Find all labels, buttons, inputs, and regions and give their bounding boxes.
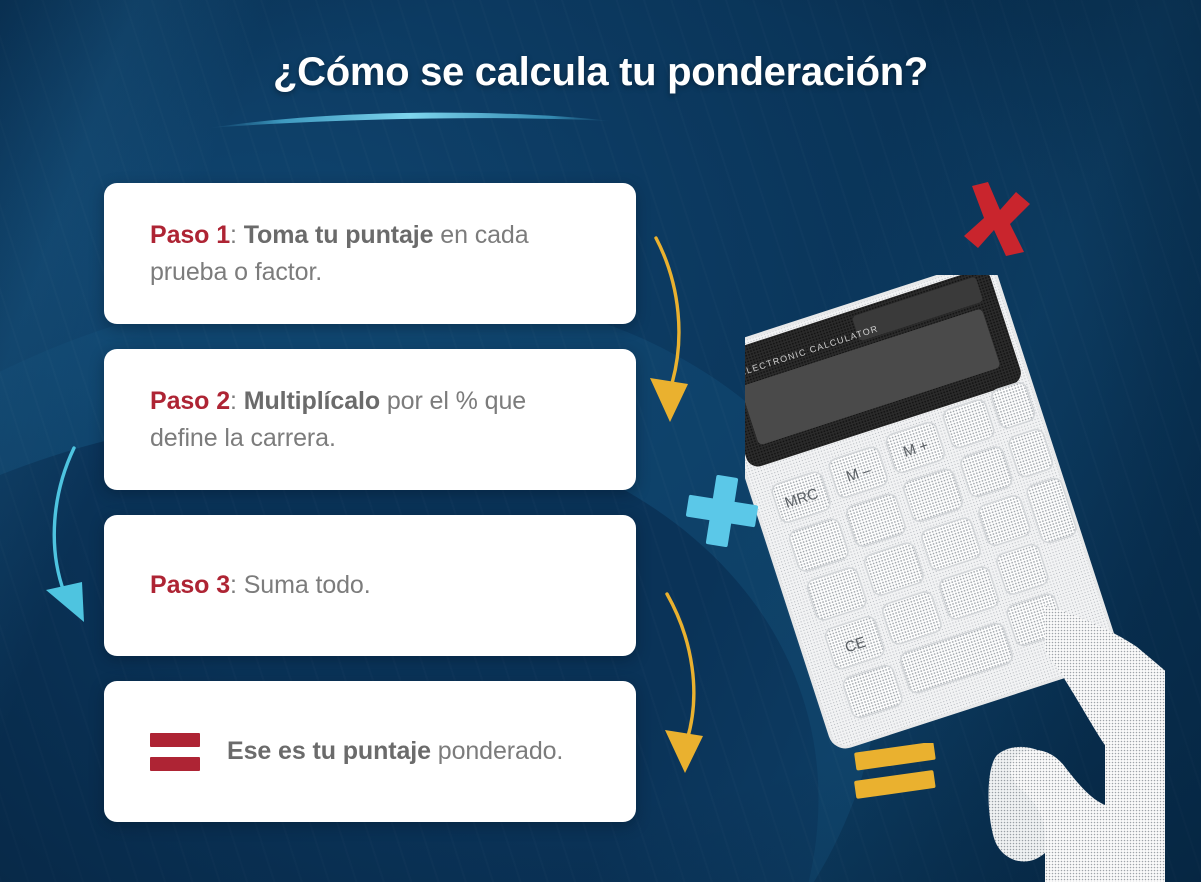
step-card-2-separator: :: [230, 387, 244, 415]
infographic-canvas: ¿Cómo se calcula tu ponderación?: [0, 0, 1201, 882]
step-card-3-separator: :: [230, 571, 244, 599]
step-card-2-text: Paso 2: Multiplícalo por el % que define…: [150, 383, 590, 456]
calculator-illustration: ELECTRONIC CALCULATOR: [745, 275, 1165, 882]
page-title: ¿Cómo se calcula tu ponderación?: [0, 50, 1201, 95]
arrow-down-cyan-icon: [38, 440, 108, 630]
step-card-1-label: Paso 1: [150, 221, 230, 249]
step-card-4-emphasis: Ese es tu puntaje: [227, 737, 431, 765]
step-card-3[interactable]: Paso 3: Suma todo.: [104, 515, 636, 656]
step-card-4[interactable]: Ese es tu puntaje ponderado.: [104, 681, 636, 822]
arrow-down-yellow-icon-1: [630, 232, 700, 432]
step-card-4-rest: ponderado.: [431, 737, 563, 765]
step-card-2-emphasis: Multiplícalo: [244, 387, 380, 415]
step-card-3-rest: Suma todo.: [244, 571, 371, 599]
step-card-1[interactable]: Paso 1: Toma tu puntaje en cada prueba o…: [104, 183, 636, 324]
step-card-2[interactable]: Paso 2: Multiplícalo por el % que define…: [104, 349, 636, 490]
plus-icon: [683, 472, 761, 550]
multiply-x-icon: [958, 180, 1034, 256]
equals-icon-decorative: [851, 743, 943, 799]
step-card-1-separator: :: [230, 221, 244, 249]
steps-list: Paso 1: Toma tu puntaje en cada prueba o…: [104, 183, 636, 847]
step-card-1-text: Paso 1: Toma tu puntaje en cada prueba o…: [150, 217, 590, 290]
step-card-2-label: Paso 2: [150, 387, 230, 415]
step-card-3-label: Paso 3: [150, 571, 230, 599]
equals-icon: [150, 733, 200, 771]
step-card-1-emphasis: Toma tu puntaje: [244, 221, 434, 249]
arrow-down-yellow-icon-2: [645, 588, 715, 783]
step-card-3-text: Paso 3: Suma todo.: [150, 567, 371, 603]
step-card-4-text: Ese es tu puntaje ponderado.: [227, 733, 563, 769]
title-underline-swoosh: [205, 104, 615, 132]
